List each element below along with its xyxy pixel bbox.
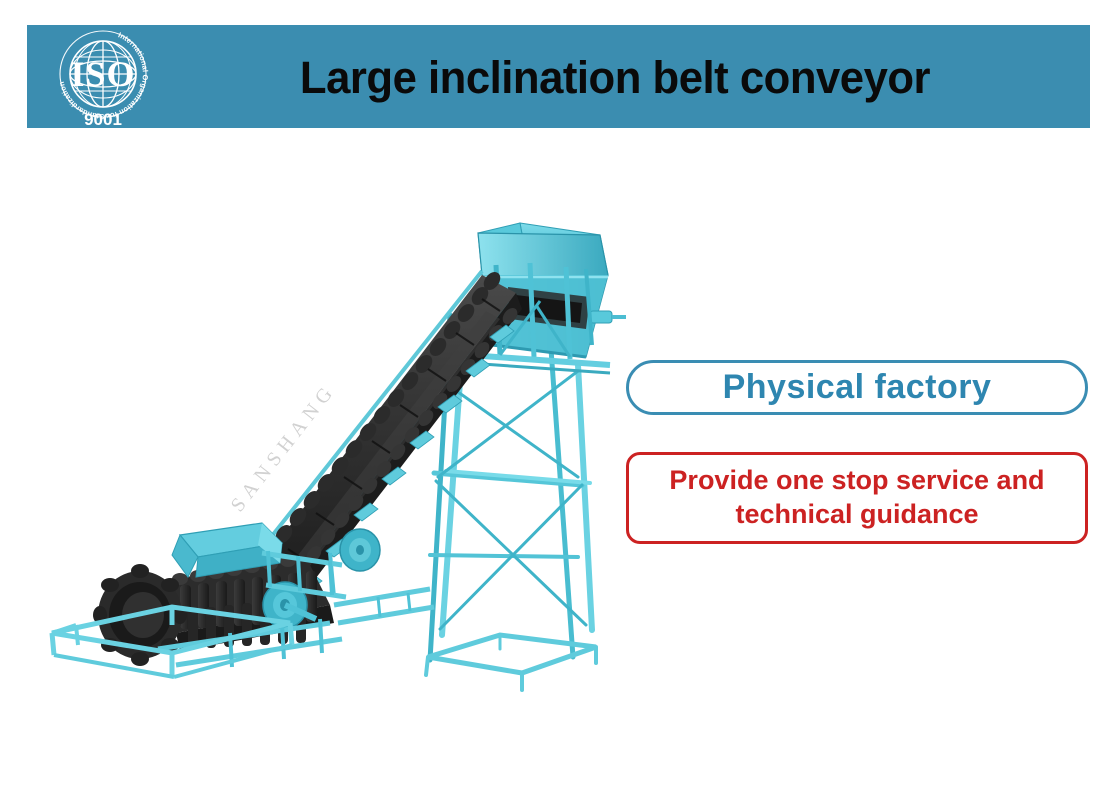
bend-pulley [340,529,380,571]
tail-section [52,523,434,677]
callout-service-guidance: Provide one stop service and technical g… [626,452,1088,544]
iso-standard-number-text: 9001 [84,110,122,128]
callout-service-line-1: Provide one stop service and [669,465,1044,495]
page-title: Large inclination belt conveyor [188,26,1042,129]
callout-physical-factory: Physical factory [626,360,1088,415]
callout-physical-factory-label: Physical factory [723,368,992,407]
iso-monogram-text: ISO [70,54,135,94]
iso-9001-logo: International Organization for Standardi… [48,26,158,128]
callout-service-line-2: technical guidance [735,499,978,529]
conveyor-illustration: SANSHANG [30,205,640,695]
callout-service-guidance-label: Provide one stop service and technical g… [669,464,1044,532]
